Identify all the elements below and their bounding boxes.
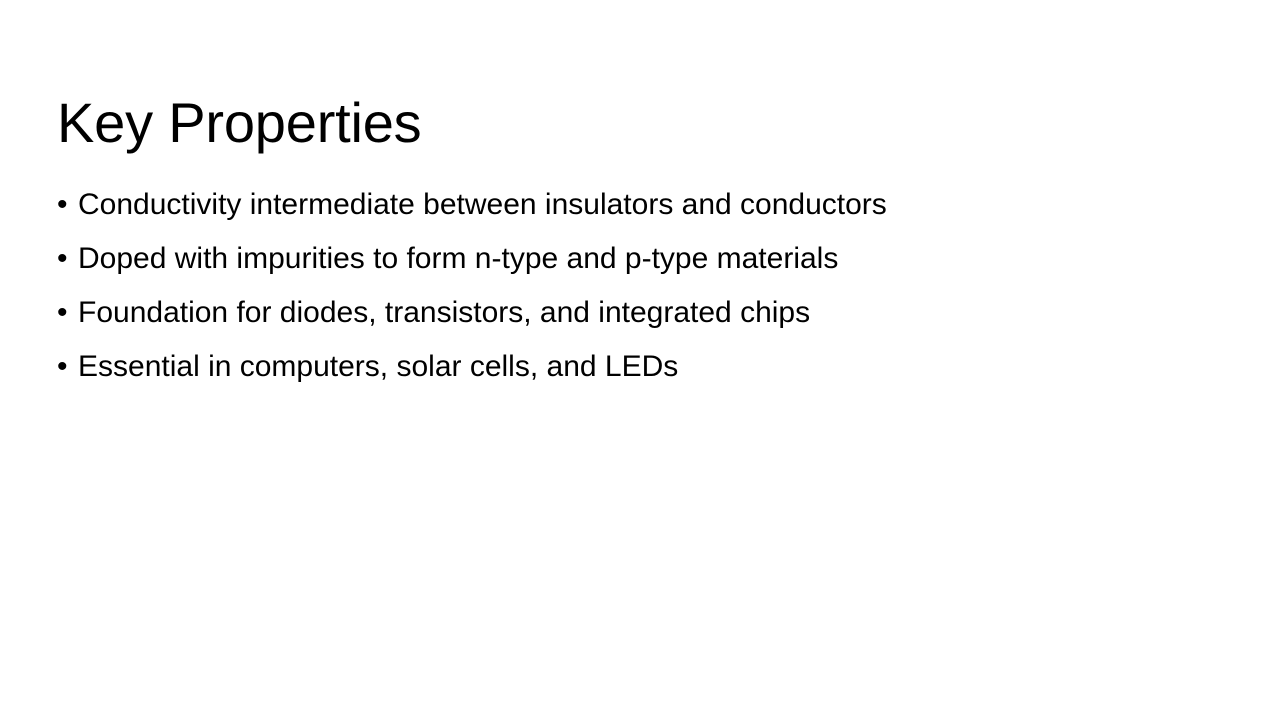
bullet-item-text: Doped with impurities to form n-type and… [78, 240, 838, 278]
bullet-item-text: Essential in computers, solar cells, and… [78, 348, 678, 386]
bullet-point-icon: • [57, 186, 78, 224]
bullet-point-icon: • [57, 294, 78, 332]
bullet-item: • Conductivity intermediate between insu… [57, 186, 1227, 240]
bullet-item: • Essential in computers, solar cells, a… [57, 348, 1227, 402]
slide-title: Key Properties [57, 90, 1217, 156]
bullet-list: • Conductivity intermediate between insu… [57, 186, 1227, 402]
presentation-slide: Key Properties • Conductivity intermedia… [0, 0, 1280, 720]
bullet-point-icon: • [57, 348, 78, 386]
bullet-item-text: Conductivity intermediate between insula… [78, 186, 887, 224]
slide-body: • Conductivity intermediate between insu… [57, 186, 1227, 402]
bullet-item: • Doped with impurities to form n-type a… [57, 240, 1227, 294]
bullet-item: • Foundation for diodes, transistors, an… [57, 294, 1227, 348]
bullet-point-icon: • [57, 240, 78, 278]
bullet-item-text: Foundation for diodes, transistors, and … [78, 294, 810, 332]
